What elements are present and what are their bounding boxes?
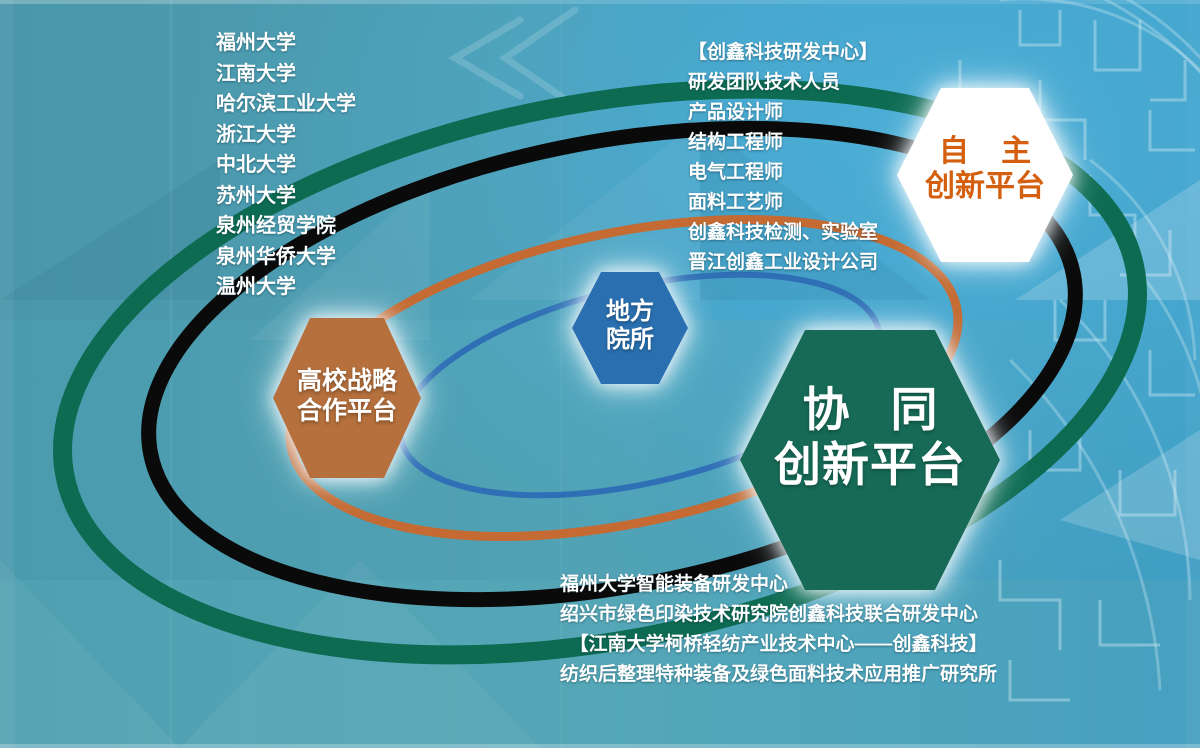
list-item: 福州大学 (216, 28, 356, 59)
list-item: 【创鑫科技研发中心】 (688, 38, 878, 68)
hex-local-institutes[interactable] (572, 272, 688, 384)
list-item: 结构工程师 (688, 128, 878, 158)
list-item: 福州大学智能装备研发中心 (560, 570, 997, 600)
list-item: 江南大学 (216, 59, 356, 90)
list-item: 中北大学 (216, 150, 356, 181)
list-item: 温州大学 (216, 272, 356, 303)
list-item: 苏州大学 (216, 181, 356, 212)
diagram-canvas: 协 同 创新平台 自 主 创新平台 高校战略 合作平台 地方 院所 福州大学 江… (0, 0, 1200, 748)
list-item: 哈尔滨工业大学 (216, 89, 356, 120)
hex-university-platform[interactable] (273, 318, 421, 478)
list-item: 【江南大学柯桥轻纺产业技术中心——创鑫科技】 (560, 630, 997, 660)
list-item: 纺织后整理特种装备及绿色面料技术应用推广研究所 (560, 660, 997, 690)
list-item: 产品设计师 (688, 98, 878, 128)
list-item: 泉州经贸学院 (216, 211, 356, 242)
list-item: 晋江创鑫工业设计公司 (688, 248, 878, 278)
hex-collaborative-platform[interactable] (740, 330, 1000, 590)
list-item: 泉州华侨大学 (216, 242, 356, 273)
list-item: 电气工程师 (688, 158, 878, 188)
joint-research-centers-list: 福州大学智能装备研发中心 绍兴市绿色印染技术研究院创鑫科技联合研发中心 【江南大… (560, 570, 997, 690)
hex-autonomy-platform[interactable] (897, 88, 1073, 262)
list-item: 面料工艺师 (688, 188, 878, 218)
university-partners-list: 福州大学 江南大学 哈尔滨工业大学 浙江大学 中北大学 苏州大学 泉州经贸学院 … (216, 28, 356, 303)
list-item: 研发团队技术人员 (688, 68, 878, 98)
rd-center-team-list: 【创鑫科技研发中心】 研发团队技术人员 产品设计师 结构工程师 电气工程师 面料… (688, 38, 878, 278)
list-item: 创鑫科技检测、实验室 (688, 218, 878, 248)
list-item: 绍兴市绿色印染技术研究院创鑫科技联合研发中心 (560, 600, 997, 630)
list-item: 浙江大学 (216, 120, 356, 151)
